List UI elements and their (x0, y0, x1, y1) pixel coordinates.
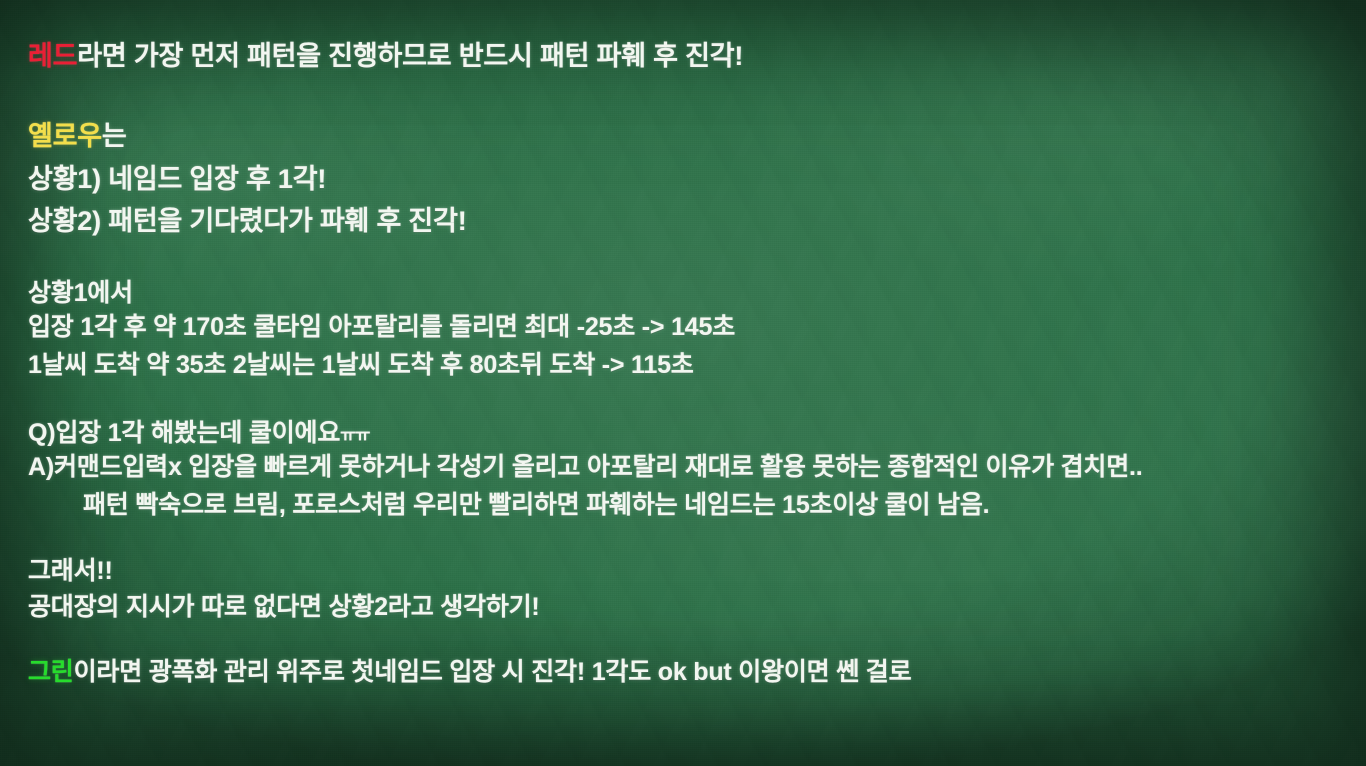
green-keyword: 그린 (28, 658, 74, 686)
chalkboard-slide: 레드라면 가장 먼저 패턴을 진행하므로 반드시 패턴 파훼 후 진각! 옐로우… (0, 0, 1366, 766)
conclusion-body: 공대장의 지시가 따로 없다면 상황2라고 생각하기! (28, 592, 540, 622)
yellow-heading-suffix: 는 (102, 121, 127, 151)
yellow-heading-line: 옐로우는 (28, 120, 127, 152)
case1-detail-cooldown: 입장 1각 후 약 170초 쿨타임 아포탈리를 돌리면 최대 -25초 -> … (28, 312, 735, 342)
question-line: Q)입장 1각 해봤는데 쿨이에요ㅠㅠ (28, 418, 369, 451)
red-keyword: 레드 (28, 41, 77, 71)
slide-text-content: 레드라면 가장 먼저 패턴을 진행하므로 반드시 패턴 파훼 후 진각! 옐로우… (0, 0, 1366, 766)
green-rule-line: 그린이라면 광폭화 관리 위주로 첫네임드 입장 시 진각! 1각도 ok bu… (28, 657, 911, 687)
red-rule-text: 라면 가장 먼저 패턴을 진행하므로 반드시 패턴 파훼 후 진각! (77, 41, 743, 71)
answer-line-2: 패턴 빡숙으로 브림, 포로스처럼 우리만 빨리하면 파훼하는 네임드는 15초… (83, 490, 989, 520)
case1-header: 상황1에서 (28, 278, 133, 308)
yellow-case2-line: 상황2) 패턴을 기다렸다가 파훼 후 진각! (28, 205, 467, 237)
yellow-case1-line: 상황1) 네임드 입장 후 1각! (28, 163, 326, 195)
red-rule-line: 레드라면 가장 먼저 패턴을 진행하므로 반드시 패턴 파훼 후 진각! (28, 40, 743, 72)
green-rule-text: 이라면 광폭화 관리 위주로 첫네임드 입장 시 진각! 1각도 ok but … (74, 658, 912, 686)
question-text: Q)입장 1각 해봤는데 쿨이에요 (28, 419, 340, 447)
conclusion-header: 그래서!! (28, 556, 113, 586)
crying-emote: ㅠㅠ (340, 426, 369, 445)
answer-line-1: A)커맨드입력x 입장을 빠르게 못하거나 각성기 올리고 아포탈리 재대로 활… (28, 452, 1143, 482)
case1-detail-weather: 1날씨 도착 약 35초 2날씨는 1날씨 도착 후 80초뒤 도착 -> 11… (28, 350, 694, 380)
yellow-keyword: 옐로우 (28, 121, 102, 151)
